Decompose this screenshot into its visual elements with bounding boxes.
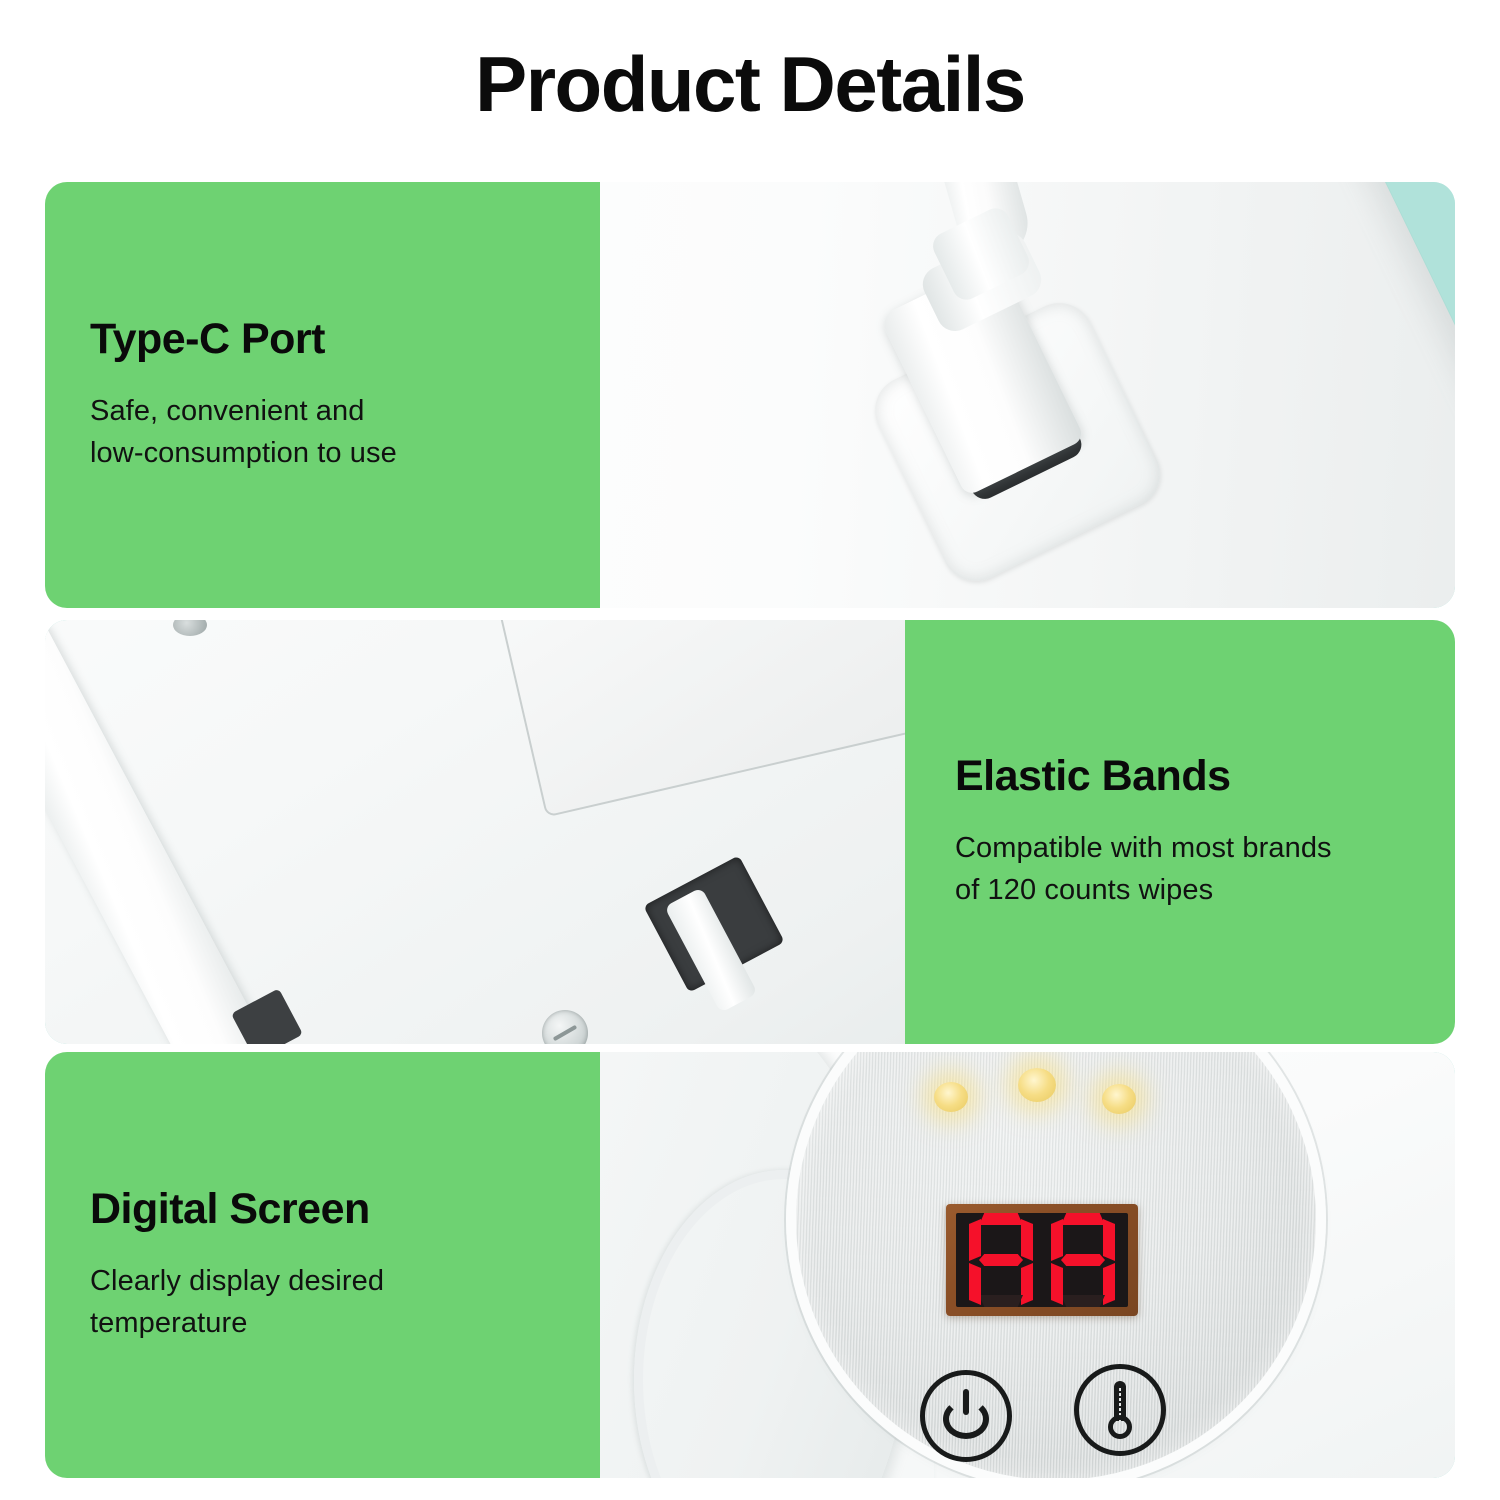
elastic-bands-heading: Elastic Bands xyxy=(955,753,1455,800)
segment-c xyxy=(1021,1263,1033,1305)
elastic-bands-text-panel: Elastic Bands Compatible with most brand… xyxy=(905,620,1455,1044)
led-digit-ones xyxy=(1049,1213,1117,1307)
segment-f xyxy=(1051,1219,1063,1261)
digital-screen-description: Clearly display desired temperature xyxy=(90,1260,600,1344)
type-c-port-description: Safe, convenient and low-consumption to … xyxy=(90,390,600,474)
elastic-bands-photo: FCC CE Appliance CO.,ltd. Address:2nd fl… xyxy=(45,620,905,1044)
segment-b xyxy=(1021,1219,1033,1261)
product-details-page: Product Details Type-C Port Safe, conven… xyxy=(0,0,1500,1500)
led-digit-tens xyxy=(967,1213,1035,1307)
indicator-light-high xyxy=(1102,1084,1136,1114)
indicator-light-low xyxy=(934,1082,968,1112)
segment-c xyxy=(1103,1263,1115,1305)
power-button[interactable] xyxy=(920,1370,1012,1462)
elastic-bands-description: Compatible with most brands of 120 count… xyxy=(955,827,1455,911)
indicator-light-medium xyxy=(1018,1068,1056,1102)
segment-b xyxy=(1103,1219,1115,1261)
segment-f xyxy=(969,1219,981,1261)
led-temperature-display xyxy=(946,1204,1138,1316)
page-title: Product Details xyxy=(0,42,1500,128)
digital-screen-text-panel: Digital Screen Clearly display desired t… xyxy=(45,1052,600,1478)
segment-a xyxy=(979,1213,1023,1225)
digital-screen-heading: Digital Screen xyxy=(90,1186,600,1233)
detail-card-type-c-port: Type-C Port Safe, convenient and low-con… xyxy=(45,182,1455,608)
segment-a xyxy=(1061,1213,1105,1225)
type-c-port-heading: Type-C Port xyxy=(90,316,600,363)
power-icon xyxy=(943,1393,989,1439)
segment-e xyxy=(1051,1263,1063,1305)
detail-card-elastic-bands: FCC CE Appliance CO.,ltd. Address:2nd fl… xyxy=(45,620,1455,1044)
detail-card-digital-screen: Digital Screen Clearly display desired t… xyxy=(45,1052,1455,1478)
type-c-port-photo xyxy=(600,182,1455,608)
segment-g xyxy=(1061,1254,1105,1266)
segment-d xyxy=(1061,1295,1105,1307)
temperature-button[interactable] xyxy=(1074,1364,1166,1456)
segment-g xyxy=(979,1254,1023,1266)
digital-screen-photo xyxy=(600,1052,1455,1478)
thermometer-icon xyxy=(1107,1381,1133,1439)
segment-d xyxy=(979,1295,1023,1307)
type-c-port-text-panel: Type-C Port Safe, convenient and low-con… xyxy=(45,182,600,608)
segment-e xyxy=(969,1263,981,1305)
